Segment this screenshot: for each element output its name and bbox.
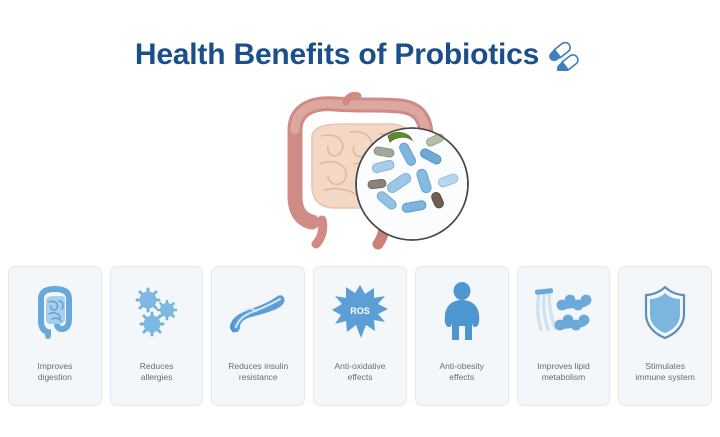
benefit-card-reduces-allergies[interactable]: Reduces allergies (110, 266, 204, 406)
magnifier-circle (356, 128, 468, 240)
hero-illustration (0, 92, 720, 252)
title-row: Health Benefits of Probiotics (0, 38, 720, 72)
benefit-card-anti-obesity-effects[interactable]: Anti-obesity effects (415, 266, 509, 406)
page-title: Health Benefits of Probiotics (135, 38, 539, 72)
obese-person-icon (438, 281, 486, 343)
shield-icon (642, 281, 688, 343)
benefit-card-improves-digestion[interactable]: Improves digestion (8, 266, 102, 406)
benefit-label: Anti-oxidative effects (318, 361, 402, 383)
benefit-label: Reduces insulin resistance (216, 361, 300, 383)
benefit-label: Stimulates immune system (623, 361, 707, 383)
infographic-root: Health Benefits of Probiotics (0, 0, 720, 437)
pancreas-icon (226, 281, 290, 343)
benefit-card-stimulates-immune-system[interactable]: Stimulates immune system (618, 266, 712, 406)
benefits-card-list: Improves digestion (8, 266, 712, 406)
benefit-label: Reduces allergies (115, 361, 199, 383)
ros-burst-icon: ROS (331, 281, 389, 343)
benefit-label: Improves digestion (13, 361, 97, 383)
ros-badge-text: ROS (350, 306, 370, 316)
intestine-illustration (250, 92, 470, 252)
benefit-label: Improves lipid metabolism (522, 361, 606, 383)
lipid-icon (530, 281, 596, 343)
benefit-label: Anti-obesity effects (420, 361, 504, 383)
benefit-card-reduces-insulin-resistance[interactable]: Reduces insulin resistance (211, 266, 305, 406)
pollen-icon (131, 281, 183, 343)
benefit-card-improves-lipid-metabolism[interactable]: Improves lipid metabolism (517, 266, 611, 406)
benefit-card-anti-oxidative-effects[interactable]: ROS Anti-oxidative effects (313, 266, 407, 406)
intestine-icon (32, 281, 78, 343)
pills-icon (549, 41, 585, 71)
